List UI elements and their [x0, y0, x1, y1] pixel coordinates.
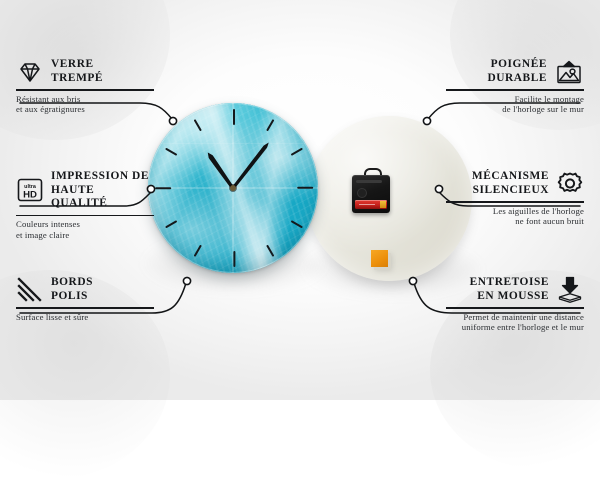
feature-divider: [446, 89, 584, 91]
diamond-icon: [16, 60, 44, 84]
feature-impression-haute-qualite[interactable]: ultra HD IMPRESSION DE HAUTE QUALITÉ Cou…: [16, 170, 154, 241]
ultra-hd-icon: ultra HD: [16, 177, 44, 203]
clock-front-face: [148, 103, 318, 273]
feature-title: IMPRESSION DE HAUTE QUALITÉ: [51, 170, 154, 211]
gear-icon: [556, 170, 584, 197]
feature-header: MÉCANISME SILENCIEUX: [446, 170, 584, 197]
feature-mecanisme-silencieux[interactable]: MÉCANISME SILENCIEUX Les aiguilles de l'…: [446, 170, 584, 227]
feature-subtitle: Les aiguilles de l'horloge ne font aucun…: [446, 206, 584, 227]
glass-edge: [148, 103, 318, 273]
feature-title: VERRE TREMPÉ: [51, 58, 103, 85]
aa-battery: [355, 200, 387, 209]
foam-spacer: [371, 250, 388, 267]
feature-verre-trempe[interactable]: VERRE TREMPÉ Résistant aux bris et aux é…: [16, 58, 154, 115]
feature-poignee-durable[interactable]: POIGNÉE DURABLE Facilite le montage de l…: [446, 58, 584, 115]
infographic-canvas: VERRE TREMPÉ Résistant aux bris et aux é…: [0, 0, 600, 400]
feature-header: ultra HD IMPRESSION DE HAUTE QUALITÉ: [16, 170, 154, 211]
feature-header: ENTRETOISE EN MOUSSE: [446, 276, 584, 303]
feature-header: BORDS POLIS: [16, 276, 154, 303]
feature-entretoise-en-mousse[interactable]: ENTRETOISE EN MOUSSE Permet de maintenir…: [446, 276, 584, 333]
feature-subtitle: Résistant aux bris et aux égratignures: [16, 94, 154, 115]
feature-title: POIGNÉE DURABLE: [487, 58, 547, 85]
feature-divider: [446, 201, 584, 203]
feature-header: POIGNÉE DURABLE: [446, 58, 584, 85]
feature-title: BORDS POLIS: [51, 276, 93, 303]
feature-title: MÉCANISME SILENCIEUX: [472, 170, 549, 197]
arrow-down-pad-icon: [556, 276, 584, 303]
svg-text:HD: HD: [23, 190, 37, 201]
feature-divider: [16, 215, 154, 217]
feature-divider: [16, 307, 154, 309]
hanging-picture-icon: [554, 59, 584, 85]
feature-subtitle: Couleurs intenses et image claire: [16, 219, 154, 240]
feature-divider: [16, 89, 154, 91]
clock-mechanism: [352, 173, 390, 213]
feature-bords-polis[interactable]: BORDS POLIS Surface lisse et sûre: [16, 276, 154, 322]
feature-subtitle: Facilite le montage de l'horloge sur le …: [446, 94, 584, 115]
feature-title: ENTRETOISE EN MOUSSE: [470, 276, 549, 303]
feature-subtitle: Permet de maintenir une distance uniform…: [446, 312, 584, 333]
feature-subtitle: Surface lisse et sûre: [16, 312, 154, 323]
feature-header: VERRE TREMPÉ: [16, 58, 154, 85]
diagonal-lines-icon: [16, 277, 44, 303]
feature-divider: [446, 307, 584, 309]
